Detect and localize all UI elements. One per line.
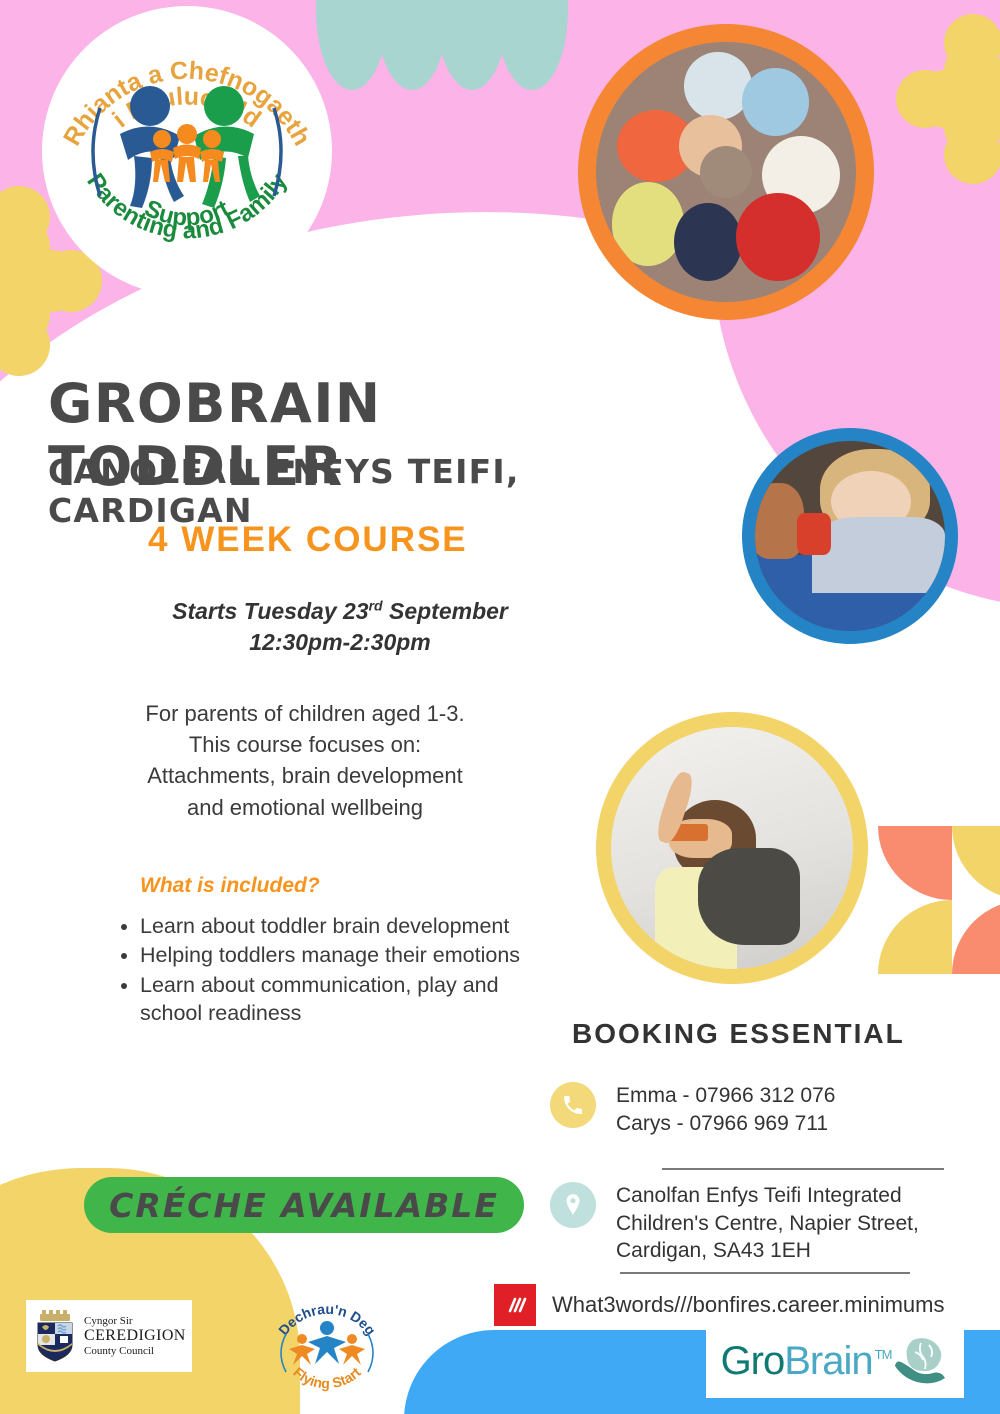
intro-line-1: For parents of children aged 1-3. [70, 698, 540, 729]
grobrain-part-1: Gro [721, 1339, 785, 1383]
phone-contact-row: Emma - 07966 312 076 Carys - 07966 969 7… [550, 1082, 990, 1137]
children-lying-in-circle-photo [578, 24, 874, 320]
hand-holding-brain-icon [893, 1336, 949, 1386]
grobrain-logo: GroBrainTM [706, 1324, 964, 1398]
quarter-circle-pattern [878, 826, 1000, 974]
ceredigion-county-council-logo: Cyngor Sir CEREDIGION County Council [26, 1300, 192, 1372]
address-row: Canolfan Enfys Teifi Integrated Children… [550, 1182, 990, 1265]
intro-line-4: and emotional wellbeing [70, 792, 540, 823]
creche-available-banner: CRÉCHE AVAILABLE [84, 1177, 524, 1233]
flying-start-logo: Dechrau'n Deg Flying Start [268, 1292, 386, 1398]
yellow-cross-shape [896, 14, 1000, 184]
child-in-cape-reaching-up-photo [596, 712, 868, 984]
ceredigion-wordmark: Cyngor Sir CEREDIGION County Council [84, 1315, 186, 1358]
contact-line: Carys - 07966 969 711 [616, 1110, 835, 1138]
poster-canvas: Rhianta a Chefnogaeth i Deuluoedd Parent… [0, 0, 1000, 1414]
heraldic-crest-icon [32, 1309, 78, 1363]
what3words-address: What3words///bonfires.career.minimums [552, 1292, 944, 1318]
start-time-line: 12:30pm-2:30pm [40, 627, 640, 658]
divider [620, 1272, 910, 1274]
council-line-1: Cyngor Sir [84, 1315, 186, 1327]
intro-line-3: Attachments, brain development [70, 760, 540, 791]
flying-start-english: Flying Start [290, 1364, 364, 1391]
page-subtitle: CANOLFAN ENFYS TEIFI, CARDIGAN [48, 452, 708, 530]
list-item: Learn about communication, play and scho… [140, 971, 560, 1028]
booking-heading: BOOKING ESSENTIAL [572, 1018, 972, 1050]
creche-label: CRÉCHE AVAILABLE [109, 1186, 499, 1225]
included-heading: What is included? [140, 874, 540, 898]
grobrain-part-2: Brain [784, 1339, 872, 1383]
address-text: Canolfan Enfys Teifi Integrated Children… [616, 1182, 919, 1265]
contact-line: Emma - 07966 312 076 [616, 1082, 835, 1110]
map-pin-icon [550, 1182, 596, 1228]
three-figures-icon [289, 1321, 365, 1365]
toddler-playing-at-table-photo [742, 428, 958, 644]
phone-contacts: Emma - 07966 312 076 Carys - 07966 969 7… [616, 1082, 835, 1137]
intro-paragraph: For parents of children aged 1-3. This c… [70, 698, 540, 823]
schedule-block: Starts Tuesday 23rd September 12:30pm-2:… [40, 596, 640, 658]
grobrain-wordmark: GroBrainTM [721, 1339, 892, 1384]
council-line-3: County Council [84, 1345, 186, 1357]
what3words-slashes-icon [494, 1284, 536, 1326]
parenting-family-support-logo: Rhianta a Chefnogaeth i Deuluoedd Parent… [42, 6, 332, 296]
divider [662, 1168, 944, 1170]
address-line: Canolfan Enfys Teifi Integrated [616, 1182, 919, 1210]
address-line: Children's Centre, Napier Street, [616, 1210, 919, 1238]
svg-text:Flying Start: Flying Start [290, 1364, 364, 1391]
address-line: Cardigan, SA43 1EH [616, 1237, 919, 1265]
list-item: Helping toddlers manage their emotions [140, 941, 560, 969]
list-item: Learn about toddler brain development [140, 912, 560, 940]
trademark-symbol: TM [875, 1347, 892, 1362]
intro-line-2: This course focuses on: [70, 729, 540, 760]
what3words-row: What3words///bonfires.career.minimums [494, 1284, 944, 1326]
phone-icon [550, 1082, 596, 1128]
logo-arc-text: Rhianta a Chefnogaeth i Deuluoedd Parent… [42, 6, 332, 296]
ordinal-suffix: rd [369, 597, 383, 613]
start-date-line: Starts Tuesday 23rd September [40, 596, 640, 627]
course-length-label: 4 WEEK COURSE [148, 520, 668, 560]
included-list: Learn about toddler brain development He… [118, 912, 560, 1029]
council-line-2: CEREDIGION [84, 1327, 186, 1345]
